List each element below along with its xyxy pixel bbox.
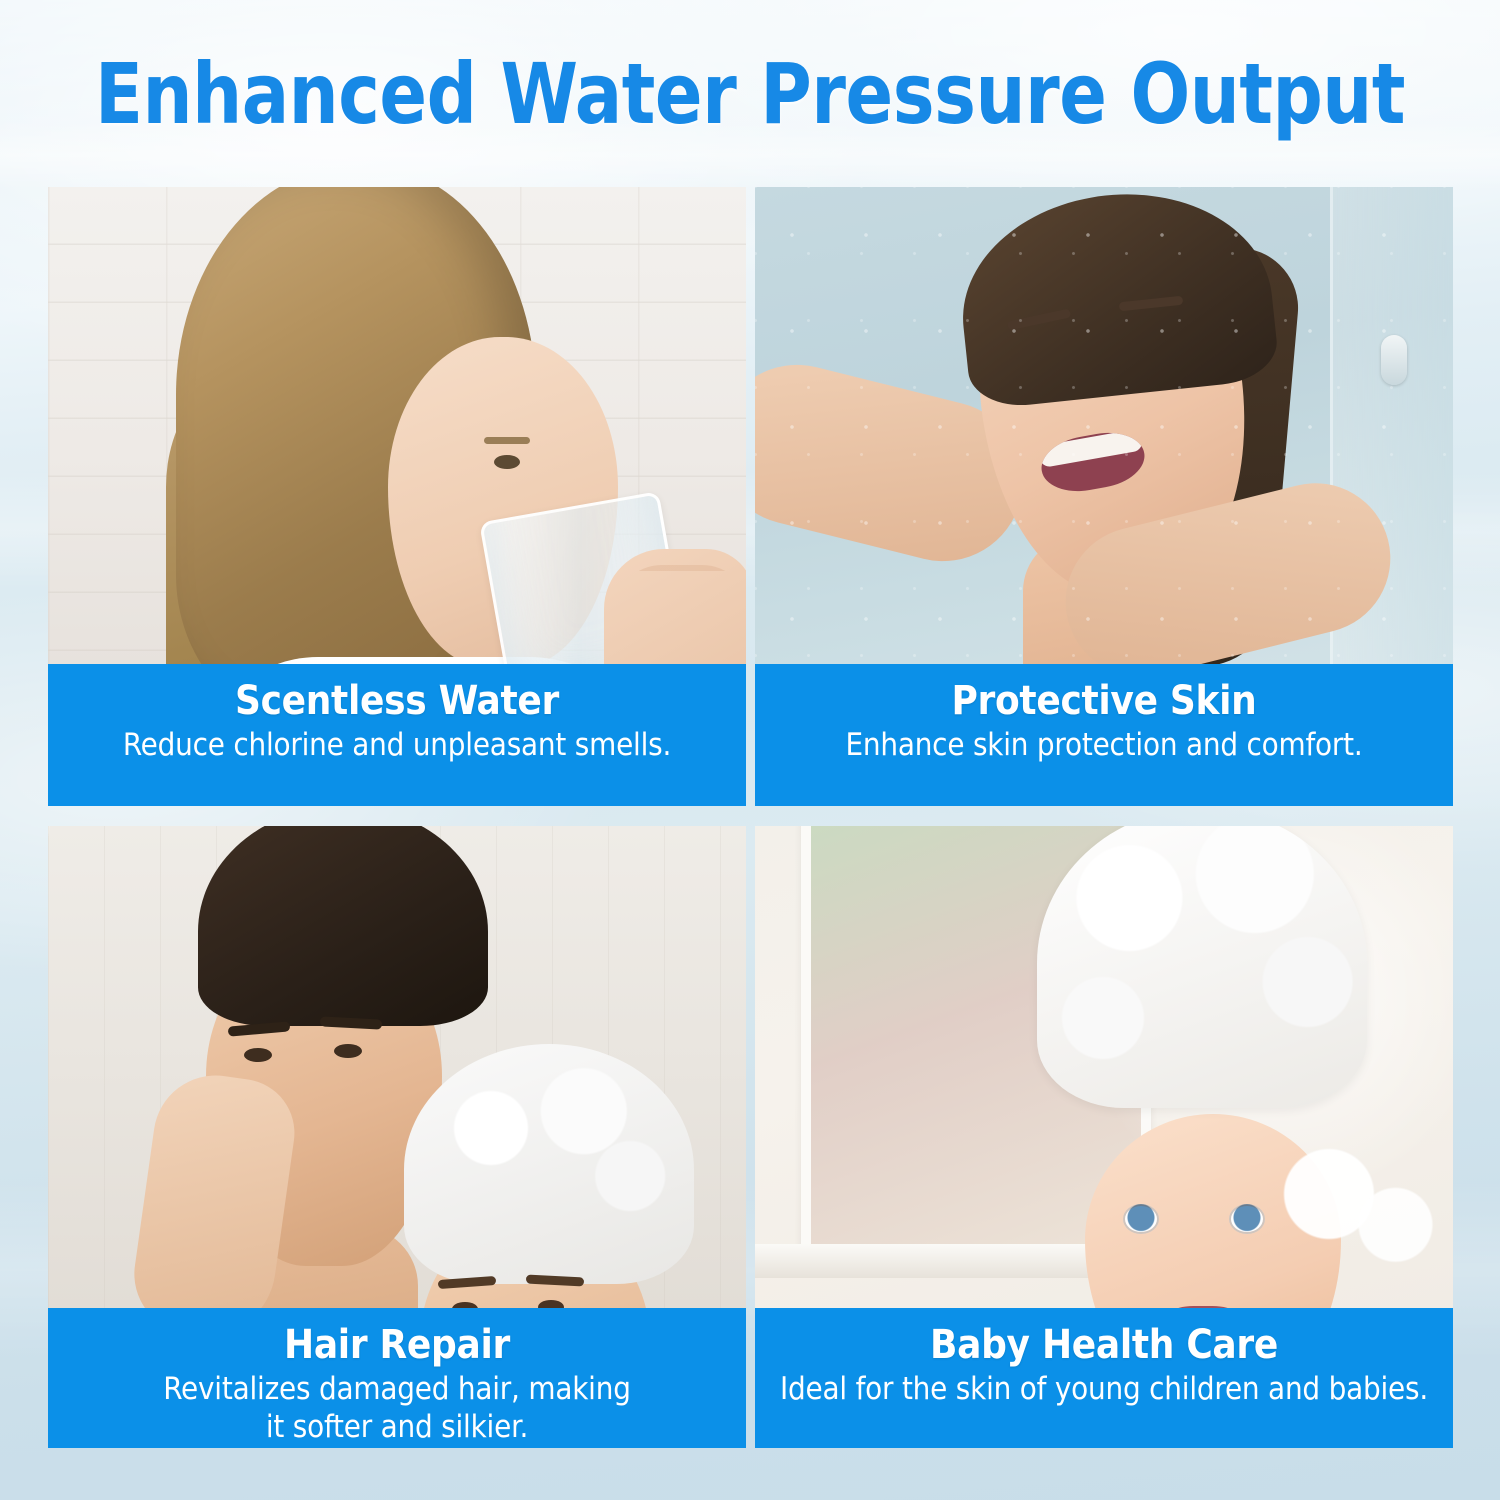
product-feature-poster: Enhanced Water Pressure Output — [0, 0, 1500, 1500]
feature-title: Scentless Water — [62, 676, 732, 726]
feature-card-baby-health-care: Baby Health Care Ideal for the skin of y… — [755, 826, 1453, 1448]
scene-girl-drinking — [48, 187, 746, 664]
girl-eyebrow — [484, 437, 530, 444]
caption-bar: Protective Skin Enhance skin protection … — [755, 664, 1453, 806]
feature-card-protective-skin: Protective Skin Enhance skin protection … — [755, 187, 1453, 806]
feature-grid: Scentless Water Reduce chlorine and unpl… — [48, 187, 1453, 1448]
bubble-foam-hat — [1037, 826, 1367, 1108]
girl-eye — [494, 455, 520, 469]
photo-girl-drinking-water — [48, 187, 746, 664]
photo-baby-with-foam — [755, 826, 1453, 1308]
feature-title: Hair Repair — [62, 1320, 732, 1370]
feature-description: Reduce chlorine and unpleasant smells. — [62, 726, 732, 764]
photo-couple-shampooing — [48, 826, 746, 1308]
feature-card-hair-repair: Hair Repair Revitalizes damaged hair, ma… — [48, 826, 746, 1448]
feature-description: Revitalizes damaged hair, making it soft… — [62, 1370, 732, 1446]
baby-eye-left — [1123, 1204, 1159, 1234]
feature-title: Protective Skin — [769, 676, 1439, 726]
photo-woman-in-shower — [755, 187, 1453, 664]
caption-bar: Scentless Water Reduce chlorine and unpl… — [48, 664, 746, 806]
girl-fingers — [614, 565, 746, 664]
scene-woman-shower — [755, 187, 1453, 664]
caption-bar: Hair Repair Revitalizes damaged hair, ma… — [48, 1308, 746, 1448]
caption-bar: Baby Health Care Ideal for the skin of y… — [755, 1308, 1453, 1448]
page-title: Enhanced Water Pressure Output — [53, 46, 1448, 142]
feature-description: Enhance skin protection and comfort. — [769, 726, 1439, 764]
scene-baby-bath — [755, 826, 1453, 1308]
feature-card-scentless-water: Scentless Water Reduce chlorine and unpl… — [48, 187, 746, 806]
water-droplets — [755, 187, 1453, 664]
feature-title: Baby Health Care — [769, 1320, 1439, 1370]
feature-description: Ideal for the skin of young children and… — [769, 1370, 1439, 1408]
falling-water-streaks — [48, 826, 746, 1308]
scene-couple-shampoo — [48, 826, 746, 1308]
